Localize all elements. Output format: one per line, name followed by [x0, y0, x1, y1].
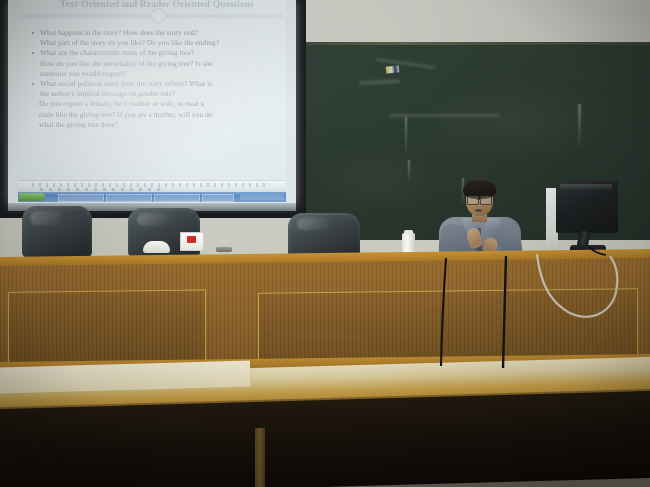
slide-subline: someone you would respect? — [26, 69, 282, 79]
slide-subline: the author's implied message on gender r… — [26, 89, 282, 99]
slide-paragraph: Do you expect a female, be it mother or … — [26, 99, 282, 109]
wall-upper-band — [300, 0, 650, 46]
taskbar-window-button — [106, 194, 152, 202]
lecture-hall-photo: Text-Oriented and Reader Oriented Questi… — [0, 0, 650, 487]
glasses-bridge — [477, 199, 480, 200]
slide-bullet: What happens in the story? How does the … — [26, 28, 282, 38]
taskbar-window-button — [154, 194, 200, 202]
toolbar-icon-strip — [32, 183, 267, 187]
bench-support-leg — [255, 428, 265, 487]
podium-inset-panel — [8, 289, 206, 365]
glasses-icon — [480, 196, 492, 205]
taskbar-window-button — [202, 194, 234, 202]
chalk-mark — [578, 104, 581, 146]
slide-bullet: What social political issue does the sto… — [26, 79, 282, 89]
presentation-slide: Text-Oriented and Reader Oriented Questi… — [18, 0, 286, 180]
toolbar-icon-strip-secondary — [40, 188, 160, 191]
lecturer-mouth — [475, 209, 482, 212]
chair-left — [22, 206, 92, 258]
projection-screen: Text-Oriented and Reader Oriented Questi… — [8, 0, 296, 205]
taskbar-window-button — [58, 194, 104, 202]
projected-taskbar — [18, 192, 286, 202]
chalk-smudge — [360, 79, 400, 85]
slide-paragraph: what the giving tree does? — [26, 120, 282, 130]
carton-logo — [187, 236, 196, 243]
taskbar-system-tray — [240, 194, 284, 200]
desk-small-object — [216, 247, 232, 252]
chalk-smudge — [390, 114, 500, 117]
chalk-mark — [405, 117, 407, 155]
foreground-bench-shadow — [0, 391, 650, 487]
white-cup — [143, 241, 170, 253]
water-bottle — [402, 233, 415, 253]
glasses-icon — [467, 196, 479, 205]
chalk-mark — [408, 160, 410, 182]
slide-paragraph: male like the giving tree? If you are a … — [26, 110, 282, 120]
monitor-highlight — [560, 184, 612, 191]
slide-bullet: What are the characteristic traits of th… — [26, 48, 282, 58]
start-button — [19, 193, 45, 201]
slide-body: What happens in the story? How does the … — [26, 28, 282, 130]
slide-subline: How do you like the personality of the g… — [26, 59, 282, 69]
water-bottle-cap — [404, 230, 413, 234]
chalkboard-clip — [386, 65, 400, 73]
slide-subline: What part of the story do you like? Do y… — [26, 38, 282, 48]
slide-decoration-circle — [151, 8, 166, 23]
